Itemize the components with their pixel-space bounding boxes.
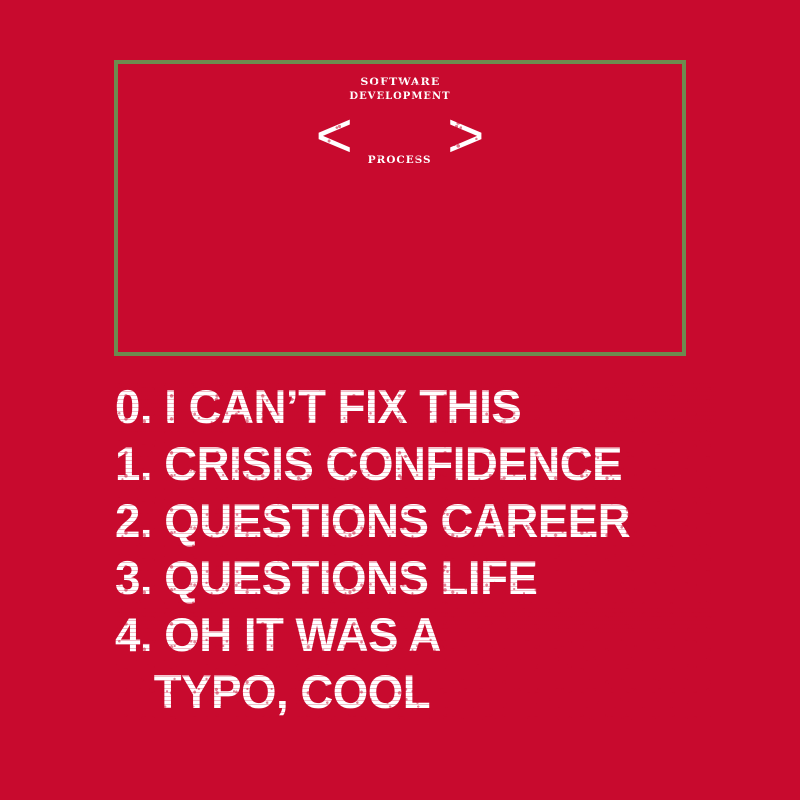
list-item-continuation-text: TYPO, COOL [115, 663, 716, 720]
title-stack: SOFTWARE DEVELOPMENT < PROCESS > [118, 78, 682, 167]
list-item-text: 2. QUESTIONS CAREER [115, 494, 630, 547]
angle-bracket-left-icon: < [305, 99, 362, 171]
list-item: 3. QUESTIONS LIFE [115, 549, 716, 606]
title-line-process-text: PROCESS [366, 156, 434, 166]
list-item: 2. QUESTIONS CAREER [115, 492, 716, 549]
list-item: 1. CRISIS CONFIDENCE [115, 435, 716, 492]
list-item: 4. OH IT WAS A TYPO, COOL [115, 606, 716, 720]
list-item-text: 0. I CAN’T FIX THIS [115, 380, 521, 433]
title-line-software-text: SOFTWARE [358, 78, 442, 88]
list-item-text: 3. QUESTIONS LIFE [115, 551, 537, 604]
list-item-text: 4. OH IT WAS A [115, 608, 441, 661]
list-item-text: 1. CRISIS CONFIDENCE [115, 437, 622, 490]
poster-canvas: SOFTWARE DEVELOPMENT < PROCESS > 0. I CA… [0, 0, 800, 800]
title-line-development: DEVELOPMENT [118, 92, 682, 102]
angle-bracket-right-icon: > [437, 99, 494, 171]
title-line-process: < PROCESS > [118, 105, 682, 166]
process-step-list: 0. I CAN’T FIX THIS 1. CRISIS CONFIDENCE… [115, 378, 735, 720]
title-line-software: SOFTWARE [118, 78, 682, 88]
list-item: 0. I CAN’T FIX THIS [115, 378, 716, 435]
title-frame: SOFTWARE DEVELOPMENT < PROCESS > [114, 60, 686, 356]
